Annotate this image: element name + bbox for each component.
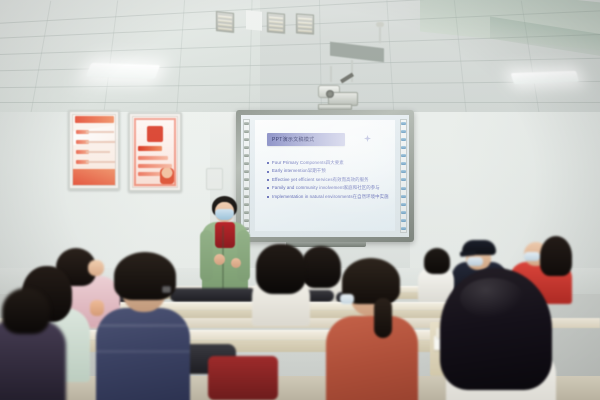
student-black-cap-mask — [467, 257, 483, 266]
teacher-right-hand — [231, 258, 241, 268]
list-item: Effective yet efficient services有效而高效的服务 — [267, 177, 387, 182]
grille-light-3-icon — [296, 13, 314, 34]
whiteboard-right-toolbar[interactable] — [400, 119, 407, 233]
slide-title-bar: PPT演示文稿模式 — [267, 133, 345, 146]
student-dark-coat — [0, 288, 66, 400]
ponytail-icon — [374, 298, 392, 338]
classroom-scene: PPT演示文稿模式 Four Primary Components四大要素 Ea… — [0, 0, 600, 400]
poster-right — [128, 112, 182, 192]
slide-title-text: PPT演示文稿模式 — [272, 136, 314, 143]
slide-bullet-text: Effective yet efficient services有效而高效的服务 — [272, 177, 369, 182]
led-panel-left-icon — [86, 63, 161, 79]
student-long-hair-back — [250, 244, 312, 320]
ceiling — [0, 0, 600, 118]
wall-control-box[interactable] — [206, 168, 223, 190]
projected-slide[interactable]: PPT演示文稿模式 Four Primary Components四大要素 Ea… — [255, 120, 395, 231]
grille-light-2-icon — [267, 12, 285, 34]
projector-rod-1 — [330, 66, 332, 82]
glasses-icon — [162, 286, 171, 293]
student-dark-coat-hair — [2, 288, 50, 334]
slide-bullet-text: Early intervention早期干预 — [272, 168, 326, 173]
projector-rod-2 — [351, 60, 353, 82]
teacher-left-arm — [200, 230, 213, 282]
grille-light-1-icon — [216, 11, 234, 33]
slide-bullet-text: Family and community involvement家庭和社区的参与 — [272, 185, 380, 190]
student-red-top-mask — [524, 252, 540, 261]
teacher — [198, 196, 254, 300]
interactive-whiteboard[interactable]: PPT演示文稿模式 Four Primary Components四大要素 Ea… — [236, 110, 414, 242]
slide-decoration-icon — [364, 135, 371, 142]
slide-bullet-text: Four Primary Components四大要素 — [272, 160, 344, 165]
student-rust-sweater-mask — [340, 294, 354, 304]
student-navy-puffer-body — [96, 308, 190, 400]
poster-left — [68, 110, 120, 190]
student-long-hair — [440, 268, 560, 400]
backpack-red — [208, 356, 278, 400]
student-rust-sweater-body — [326, 316, 418, 400]
list-item: Early intervention早期干预 — [267, 168, 387, 173]
smoke-detector-stem — [379, 27, 381, 43]
list-item: Implementation in natural environments在自… — [267, 194, 387, 199]
list-item: Four Primary Components四大要素 — [267, 160, 387, 165]
led-panel-right-icon — [511, 71, 579, 84]
slide-bullet-list: Four Primary Components四大要素 Early interv… — [267, 160, 387, 202]
teacher-inner-top — [215, 222, 235, 248]
student-long-hair-back-hair — [256, 244, 306, 294]
teacher-face-mask — [215, 209, 234, 220]
teacher-right-arm — [237, 230, 250, 282]
student-navy-puffer — [96, 252, 190, 400]
list-item: Family and community involvement家庭和社区的参与 — [267, 185, 387, 190]
slide-bullet-text: Implementation in natural environments在自… — [272, 194, 389, 199]
student-rust-sweater — [326, 258, 418, 400]
projector-lens-icon — [326, 90, 334, 98]
ceiling-slot — [246, 10, 262, 30]
teacher-left-hand — [214, 254, 225, 265]
